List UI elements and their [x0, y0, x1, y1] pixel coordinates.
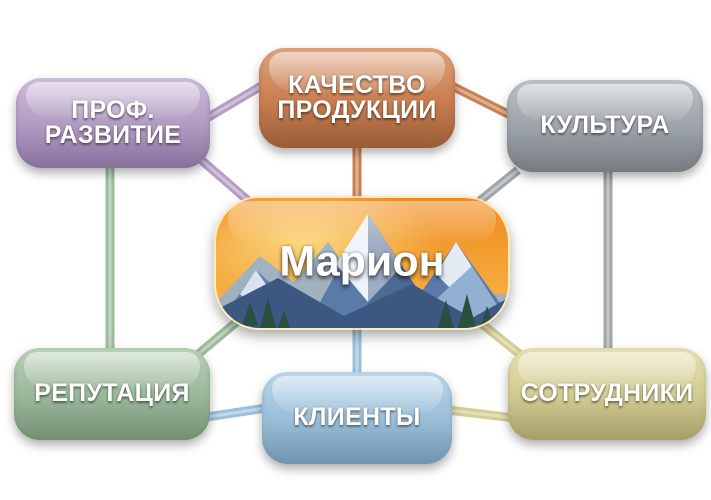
node-sotrudniki[interactable]: СОТРУДНИКИ [508, 348, 706, 440]
node-label-kachestvo-produkcii: КАЧЕСТВО ПРОДУКЦИИ [271, 73, 442, 124]
node-reputaciya[interactable]: РЕПУТАЦИЯ [14, 348, 210, 440]
center-node[interactable]: Марион [214, 196, 510, 330]
node-label-kultura: КУЛЬТУРА [534, 113, 675, 139]
node-label-prof-razvitie: ПРОФ. РАЗВИТИЕ [39, 98, 188, 149]
mind-map-diagram: МарионПРОФ. РАЗВИТИЕКАЧЕСТВО ПРОДУКЦИИКУ… [0, 0, 711, 500]
node-klienty[interactable]: КЛИЕНТЫ [262, 372, 452, 464]
node-label-sotrudniki: СОТРУДНИКИ [515, 381, 700, 407]
node-kultura[interactable]: КУЛЬТУРА [507, 80, 703, 172]
node-prof-razvitie[interactable]: ПРОФ. РАЗВИТИЕ [16, 78, 210, 168]
node-label-klienty: КЛИЕНТЫ [287, 405, 426, 431]
center-node-label: Марион [216, 238, 508, 287]
node-label-reputaciya: РЕПУТАЦИЯ [28, 381, 196, 407]
node-kachestvo-produkcii[interactable]: КАЧЕСТВО ПРОДУКЦИИ [259, 48, 455, 148]
